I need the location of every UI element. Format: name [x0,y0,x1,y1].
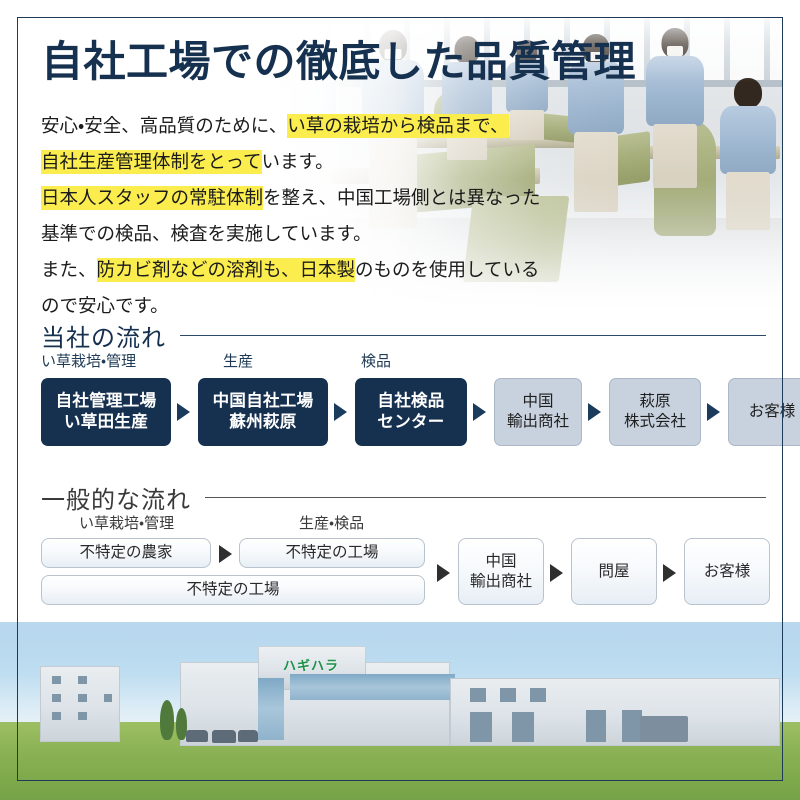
flow-box-customer-general[interactable]: お客様 [684,538,770,605]
body-line-3-plain: を整え、中国工場側とは異なった [263,187,541,208]
body-line-2-highlight: 自社生産管理体制をとって [41,150,262,174]
body-line-5-highlight-2: 日本製 [299,258,355,282]
section-header-company-flow: 当社の流れ [41,318,766,353]
flow-box-unspecified-factory-wide[interactable]: 不特定の工場 [41,575,425,605]
body-line-4: 基準での検品、検査を実施しています。 [41,216,541,252]
company-flow-row: 自社管理工場 い草田生産 中国自社工場 蘇州萩原 自社検品 センター 中国 輸出… [41,378,766,454]
flow-arrow-5 [707,403,720,421]
body-line-1: 安心・安全、高品質のために、い草の栽培から検品まで、 [41,108,541,144]
flow-box-customer[interactable]: お客様 [728,378,800,446]
section-header-general-flow: 一般的な流れ [41,480,766,515]
flow-arrow-4 [588,403,601,421]
body-line-5-plain-b: のものを使用している [355,259,539,280]
body-line-1-highlight: い草の栽培から検品まで、 [287,114,508,138]
general-flow-captions: い草栽培・管理 生産・検品 [41,512,766,534]
caption-production-inspection-general: 生産・検品 [299,512,364,533]
body-line-2: 自社生産管理体制をとっています。 [41,144,541,180]
factory-exterior-photo: ハギハラ [0,622,800,800]
infographic-page: 自社工場での徹底した品質管理 安心・安全、高品質のために、い草の栽培から検品まで… [0,0,800,800]
flow-arrow-2 [334,403,347,421]
flow-arrow-general-2 [437,564,450,582]
section-title-company-flow: 当社の流れ [41,318,180,353]
page-title: 自社工場での徹底した品質管理 [41,38,636,86]
flow-box-hagihara-corp[interactable]: 萩原 株式会社 [609,378,701,446]
body-line-1-plain: 安心・安全、高品質のために、 [41,115,287,136]
flow-box-china-own-factory[interactable]: 中国自社工場 蘇州萩原 [198,378,328,446]
section-rule [205,497,766,499]
body-line-3: 日本人スタッフの常駐体制を整え、中国工場側とは異なった [41,180,541,216]
flow-box-unspecified-factory[interactable]: 不特定の工場 [239,538,425,568]
flow-box-china-export-trader[interactable]: 中国 輸出商社 [494,378,582,446]
body-copy: 安心・安全、高品質のために、い草の栽培から検品まで、 自社生産管理体制をとってい… [41,108,541,324]
body-line-5: また、防カビ剤などの溶剤も、日本製のものを使用している [41,252,541,288]
body-line-5-highlight-1: 防カビ剤などの溶剤も、 [97,258,300,282]
section-rule [180,335,766,337]
caption-production: 生産 [223,350,253,371]
flow-arrow-3 [473,403,486,421]
flow-box-own-managed-factory[interactable]: 自社管理工場 い草田生産 [41,378,171,446]
flow-arrow-general-3 [550,564,563,582]
flow-box-wholesaler[interactable]: 問屋 [571,538,657,605]
flow-box-china-export-trader-general[interactable]: 中国 輸出商社 [458,538,544,605]
body-line-5-plain-a: また、 [41,259,97,280]
company-flow-captions: い草栽培・管理 生産 検品 [41,350,766,372]
flow-arrow-1 [177,403,190,421]
flow-box-inspection-center[interactable]: 自社検品 センター [355,378,467,446]
caption-igusa-cultivation: い草栽培・管理 [41,350,136,371]
caption-igusa-cultivation-general: い草栽培・管理 [79,512,174,533]
section-title-general-flow: 一般的な流れ [41,480,205,515]
flow-arrow-general-4 [663,564,676,582]
flow-box-unspecified-farmer[interactable]: 不特定の農家 [41,538,211,568]
body-line-3-highlight: 日本人スタッフの常駐体制 [41,186,263,210]
body-line-2-plain: います。 [262,151,334,172]
photo-haze [0,622,800,800]
flow-arrow-general-1 [219,545,232,563]
caption-inspection: 検品 [361,350,391,371]
general-flow-row: 不特定の農家 不特定の工場 不特定の工場 中国 輸出商社 問屋 お客様 [41,538,766,616]
